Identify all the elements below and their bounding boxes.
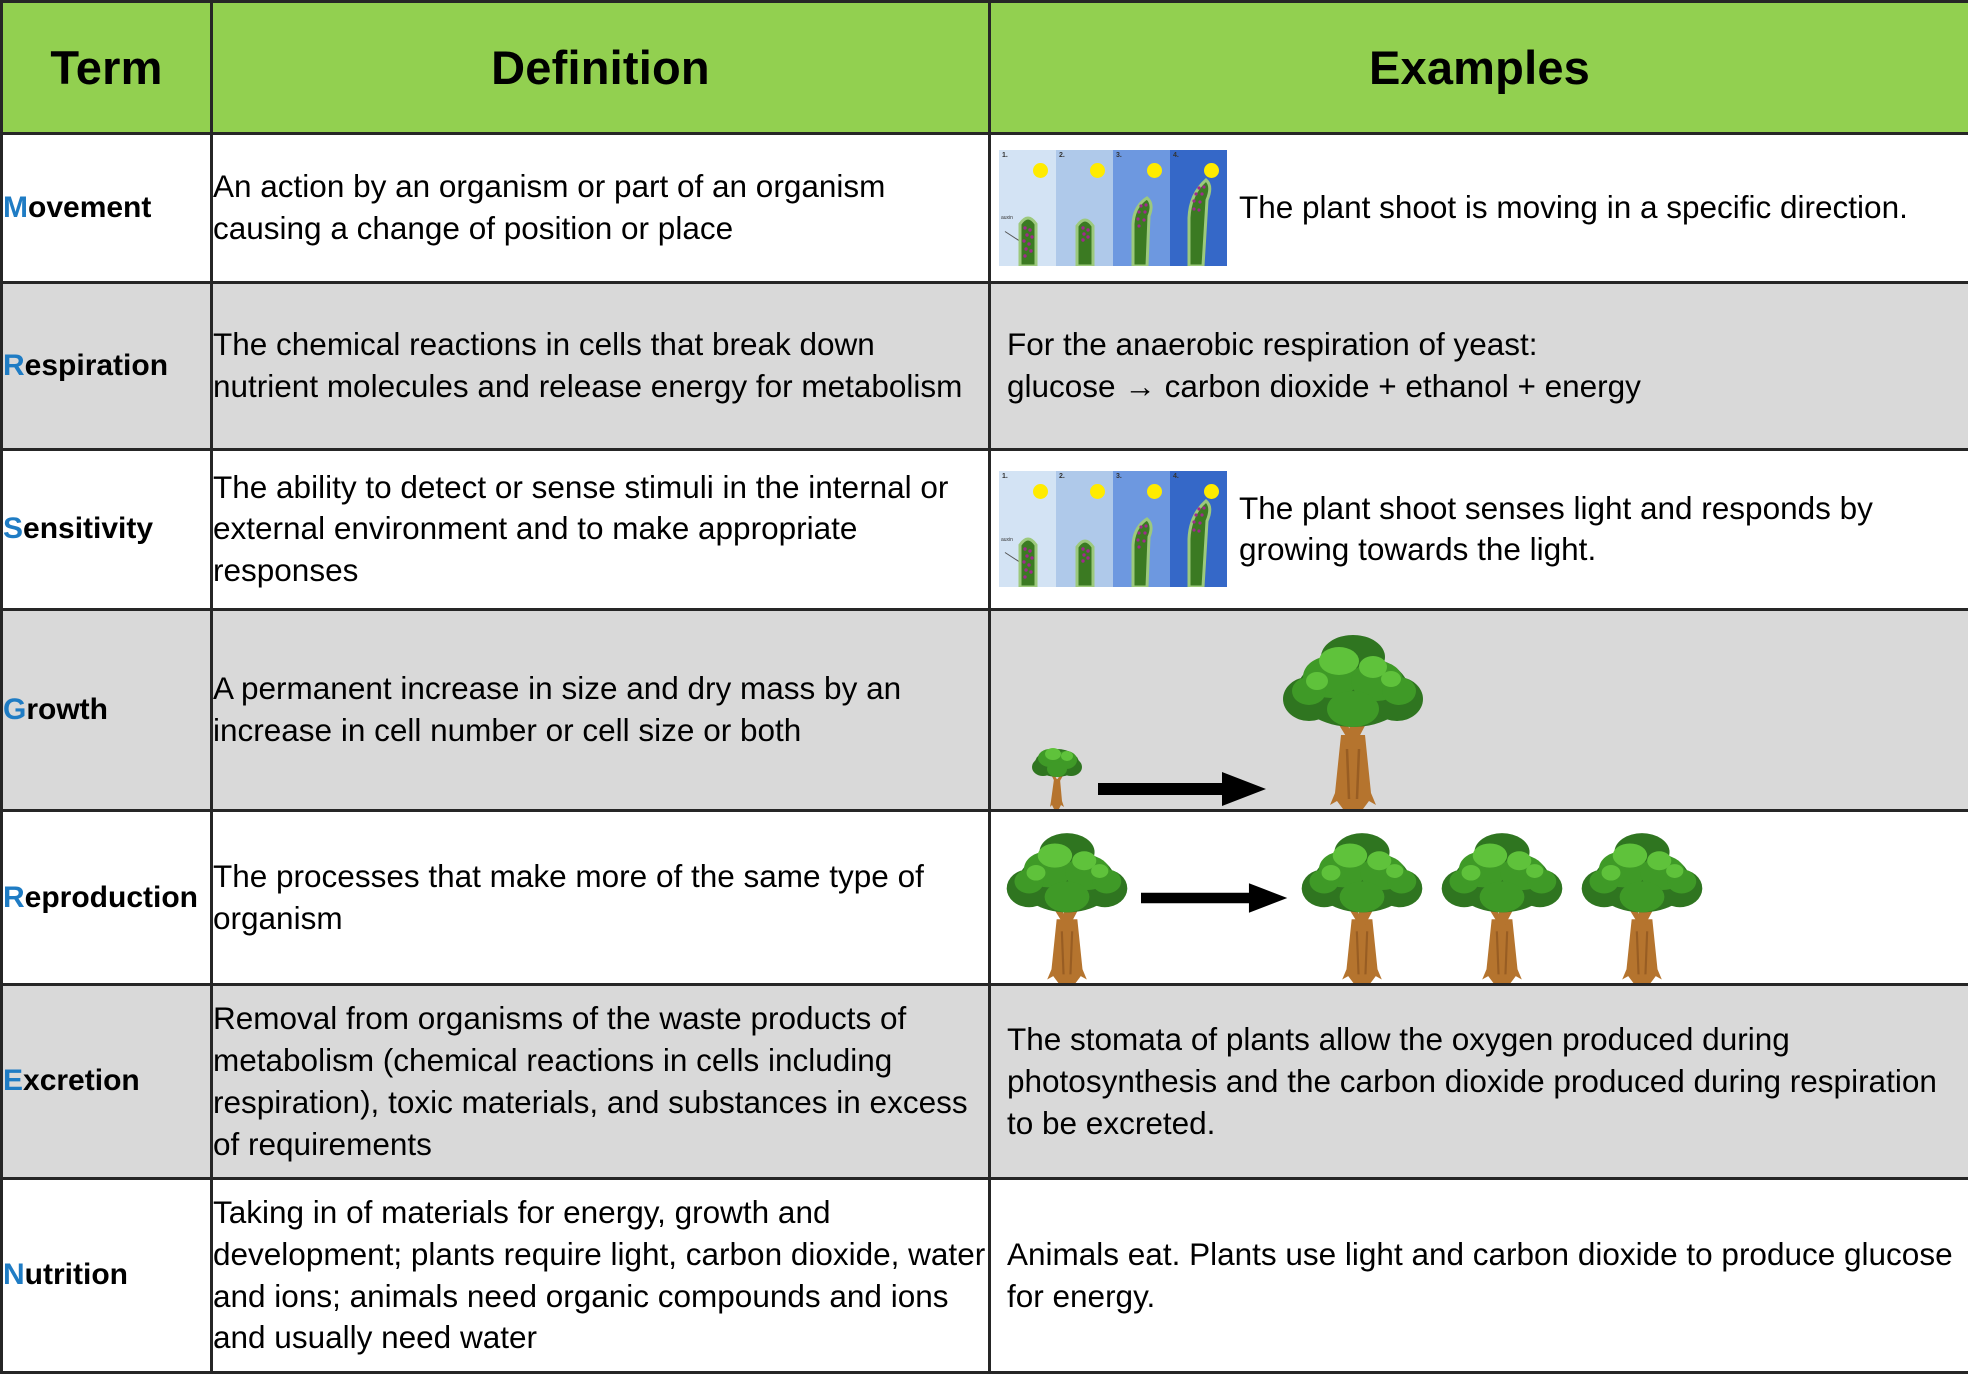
phototropism-panel-3: 3.	[1113, 471, 1170, 587]
characteristics-of-living-organisms-table: Term Definition Examples Movement An act…	[0, 0, 1968, 1374]
shoot-upright-icon	[1015, 529, 1041, 587]
term-initial-letter: R	[3, 881, 25, 914]
example-caption-movement: The plant shoot is moving in a specific …	[1239, 187, 1960, 228]
term-remainder: ovement	[28, 191, 151, 224]
shoot-bending-icon	[1127, 190, 1157, 266]
term-remainder: rowth	[26, 693, 108, 726]
term-cell-excretion: Excretion	[2, 985, 212, 1179]
example-caption-sensitivity: The plant shoot senses light and respond…	[1239, 488, 1960, 570]
panel-number-label: 4.	[1173, 473, 1179, 480]
term-initial-letter: N	[3, 1258, 25, 1291]
parent-tree-icon	[997, 828, 1137, 983]
phototropism-panel-1: 1. auxin	[999, 150, 1056, 266]
term-cell-growth: Growth	[2, 609, 212, 811]
phototropism-panel-1: 1. auxin	[999, 471, 1056, 587]
sun-icon	[1033, 163, 1048, 178]
sun-icon	[1147, 484, 1162, 499]
column-header-definition: Definition	[212, 2, 990, 134]
table-row: Sensitivity The ability to detect or sen…	[2, 450, 1968, 610]
phototropism-panel-2: 2.	[1056, 150, 1113, 266]
definition-cell-sensitivity: The ability to detect or sense stimuli i…	[212, 450, 990, 610]
large-tree-icon	[1273, 629, 1433, 809]
shoot-bending-icon	[1127, 511, 1157, 587]
term-initial-letter: S	[3, 512, 23, 545]
term-remainder: eproduction	[25, 881, 198, 914]
term-cell-nutrition: Nutrition	[2, 1179, 212, 1373]
table-row: Reproduction The processes that make mor…	[2, 811, 1968, 985]
definition-cell-nutrition: Taking in of materials for energy, growt…	[212, 1179, 990, 1373]
definition-cell-excretion: Removal from organisms of the waste prod…	[212, 985, 990, 1179]
definition-cell-reproduction: The processes that make more of the same…	[212, 811, 990, 985]
term-remainder: xcretion	[23, 1064, 140, 1097]
table-header-row: Term Definition Examples	[2, 2, 1968, 134]
term-initial-letter: M	[3, 191, 28, 224]
phototropism-strip-graphic: 1. auxin	[999, 471, 1227, 587]
definition-cell-movement: An action by an organism or part of an o…	[212, 134, 990, 283]
reproduction-trees-graphic	[991, 812, 1968, 983]
table-row: Movement An action by an organism or par…	[2, 134, 1968, 283]
sun-icon	[1090, 484, 1105, 499]
offspring-tree-icon	[1292, 828, 1432, 983]
term-remainder: utrition	[25, 1258, 128, 1291]
shoot-upright-icon	[1072, 210, 1098, 266]
table-row: Respiration The chemical reactions in ce…	[2, 282, 1968, 449]
panel-number-label: 3.	[1116, 152, 1122, 159]
example-cell-nutrition: Animals eat. Plants use light and carbon…	[990, 1179, 1968, 1373]
panel-number-label: 3.	[1116, 473, 1122, 480]
sun-icon	[1033, 484, 1048, 499]
example-cell-movement: 1. auxin	[990, 134, 1968, 283]
sun-icon	[1147, 163, 1162, 178]
offspring-tree-icon	[1572, 828, 1712, 983]
example-caption-line1: For the anaerobic respiration of yeast:	[1007, 324, 1954, 366]
phototropism-panel-2: 2.	[1056, 471, 1113, 587]
panel-number-label: 2.	[1059, 152, 1065, 159]
column-header-term: Term	[2, 2, 212, 134]
example-caption-line2: glucose → carbon dioxide + ethanol + ene…	[1007, 366, 1954, 408]
shoot-bending-strong-icon	[1182, 174, 1216, 266]
small-tree-icon	[1021, 727, 1093, 809]
reproduction-arrow-icon	[1137, 812, 1292, 983]
definition-cell-growth: A permanent increase in size and dry mas…	[212, 609, 990, 811]
panel-number-label: 1.	[1002, 473, 1008, 480]
example-cell-excretion: The stomata of plants allow the oxygen p…	[990, 985, 1968, 1179]
term-remainder: ensitivity	[23, 512, 153, 545]
column-header-examples: Examples	[990, 2, 1968, 134]
example-cell-sensitivity: 1. auxin	[990, 450, 1968, 610]
phototropism-panel-4: 4.	[1170, 150, 1227, 266]
term-remainder: espiration	[25, 349, 168, 382]
definition-cell-respiration: The chemical reactions in cells that bre…	[212, 282, 990, 449]
auxin-label: auxin	[1001, 215, 1013, 222]
panel-number-label: 1.	[1002, 152, 1008, 159]
sun-icon	[1090, 163, 1105, 178]
example-caption-nutrition: Animals eat. Plants use light and carbon…	[991, 1230, 1968, 1322]
growth-trees-graphic	[991, 611, 1968, 810]
growth-arrow-icon	[1093, 769, 1273, 809]
term-cell-movement: Movement	[2, 134, 212, 283]
phototropism-panel-3: 3.	[1113, 150, 1170, 266]
example-caption-excretion: The stomata of plants allow the oxygen p…	[991, 1015, 1968, 1149]
term-initial-letter: G	[3, 693, 26, 726]
panel-number-label: 2.	[1059, 473, 1065, 480]
term-cell-respiration: Respiration	[2, 282, 212, 449]
phototropism-strip-graphic: 1. auxin	[999, 150, 1227, 266]
table-row: Nutrition Taking in of materials for ene…	[2, 1179, 1968, 1373]
term-initial-letter: R	[3, 349, 25, 382]
panel-number-label: 4.	[1173, 152, 1179, 159]
example-cell-growth	[990, 609, 1968, 811]
term-cell-sensitivity: Sensitivity	[2, 450, 212, 610]
term-initial-letter: E	[3, 1064, 23, 1097]
shoot-upright-icon	[1015, 208, 1041, 266]
table-row: Excretion Removal from organisms of the …	[2, 985, 1968, 1179]
auxin-label: auxin	[1001, 537, 1013, 544]
offspring-tree-icon	[1432, 828, 1572, 983]
term-cell-reproduction: Reproduction	[2, 811, 212, 985]
shoot-upright-icon	[1072, 531, 1098, 587]
table-row: Growth A permanent increase in size and …	[2, 609, 1968, 811]
mrsgren-table-page: Term Definition Examples Movement An act…	[0, 0, 1968, 1374]
example-cell-respiration: For the anaerobic respiration of yeast: …	[990, 282, 1968, 449]
phototropism-panel-4: 4.	[1170, 471, 1227, 587]
example-cell-reproduction	[990, 811, 1968, 985]
shoot-bending-strong-icon	[1182, 495, 1216, 587]
